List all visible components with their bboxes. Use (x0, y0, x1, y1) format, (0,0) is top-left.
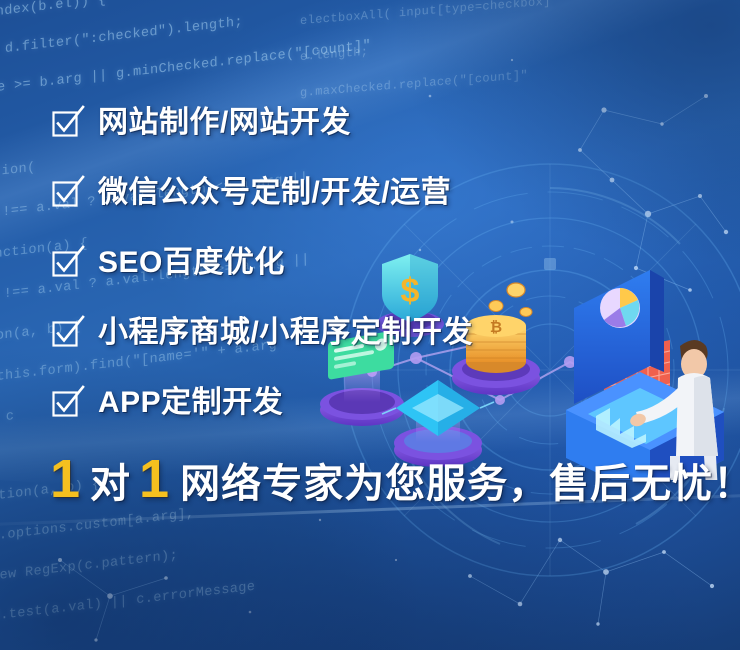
checklist-item[interactable]: SEO百度优化 (52, 240, 692, 286)
headline-number-first: 1 (50, 452, 81, 506)
checkbox-checked-icon[interactable] (52, 179, 80, 207)
checklist-item-label: SEO百度优化 (98, 248, 285, 278)
checklist-item-label: 小程序商城/小程序定制开发 (98, 318, 473, 348)
checklist-item[interactable]: APP定制开发 (52, 380, 692, 426)
checklist-item[interactable]: 微信公众号定制/开发/运营 (52, 170, 692, 216)
checklist-item-label: 微信公众号定制/开发/运营 (98, 178, 451, 208)
banner-content: 网站制作/网站开发 微信公众号定制/开发/运营 (0, 0, 740, 650)
promo-banner: d.index(b.el)) { e = d.filter(":checked"… (0, 0, 740, 650)
checkbox-checked-icon[interactable] (52, 389, 80, 417)
service-checklist: 网站制作/网站开发 微信公众号定制/开发/运营 (52, 100, 692, 426)
checklist-item-label: APP定制开发 (98, 388, 283, 418)
checklist-item-label: 网站制作/网站开发 (98, 108, 351, 138)
checkbox-checked-icon[interactable] (52, 249, 80, 277)
checkbox-checked-icon[interactable] (52, 319, 80, 347)
checklist-item[interactable]: 小程序商城/小程序定制开发 (52, 310, 692, 356)
checklist-item[interactable]: 网站制作/网站开发 (52, 100, 692, 146)
headline-banner: 1 对 1 网络专家为您服务，售后无忧！ (50, 452, 740, 506)
headline-number-second: 1 (139, 452, 170, 506)
headline-separator: 对 (90, 464, 130, 504)
headline-text: 网络专家为您服务，售后无忧！ (180, 464, 740, 504)
checkbox-checked-icon[interactable] (52, 109, 80, 137)
